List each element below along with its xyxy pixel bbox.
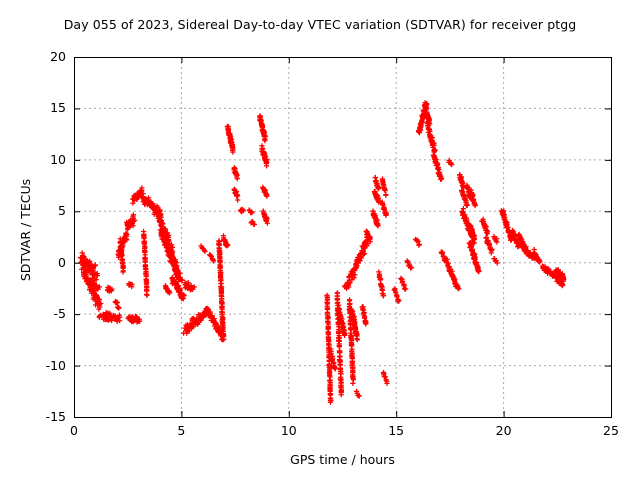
scatter-plot-area (0, 0, 640, 480)
data-point (383, 193, 388, 198)
y-tick-label: -10 (16, 358, 66, 372)
y-tick-label: 5 (16, 203, 66, 217)
x-tick-label: 20 (484, 423, 524, 438)
data-point (235, 197, 240, 202)
data-point (355, 337, 360, 342)
data-point (350, 381, 355, 386)
x-tick-label: 5 (161, 423, 201, 438)
y-tick-label: 20 (16, 49, 66, 63)
gridlines (74, 57, 611, 417)
chart-figure: Day 055 of 2023, Sidereal Day-to-day VTE… (0, 0, 640, 480)
data-markers (78, 100, 566, 405)
x-tick-label: 15 (376, 423, 416, 438)
x-tick-label: 10 (269, 423, 309, 438)
y-tick-label: -15 (16, 409, 66, 423)
y-tick-label: 10 (16, 152, 66, 166)
x-tick-label: 0 (54, 423, 94, 438)
x-tick-label: 25 (591, 423, 631, 438)
y-tick-label: -5 (16, 306, 66, 320)
y-tick-label: 0 (16, 255, 66, 269)
tick-marks (74, 57, 612, 418)
data-point (144, 292, 149, 297)
y-tick-label: 15 (16, 100, 66, 114)
plot-frame (75, 58, 612, 418)
